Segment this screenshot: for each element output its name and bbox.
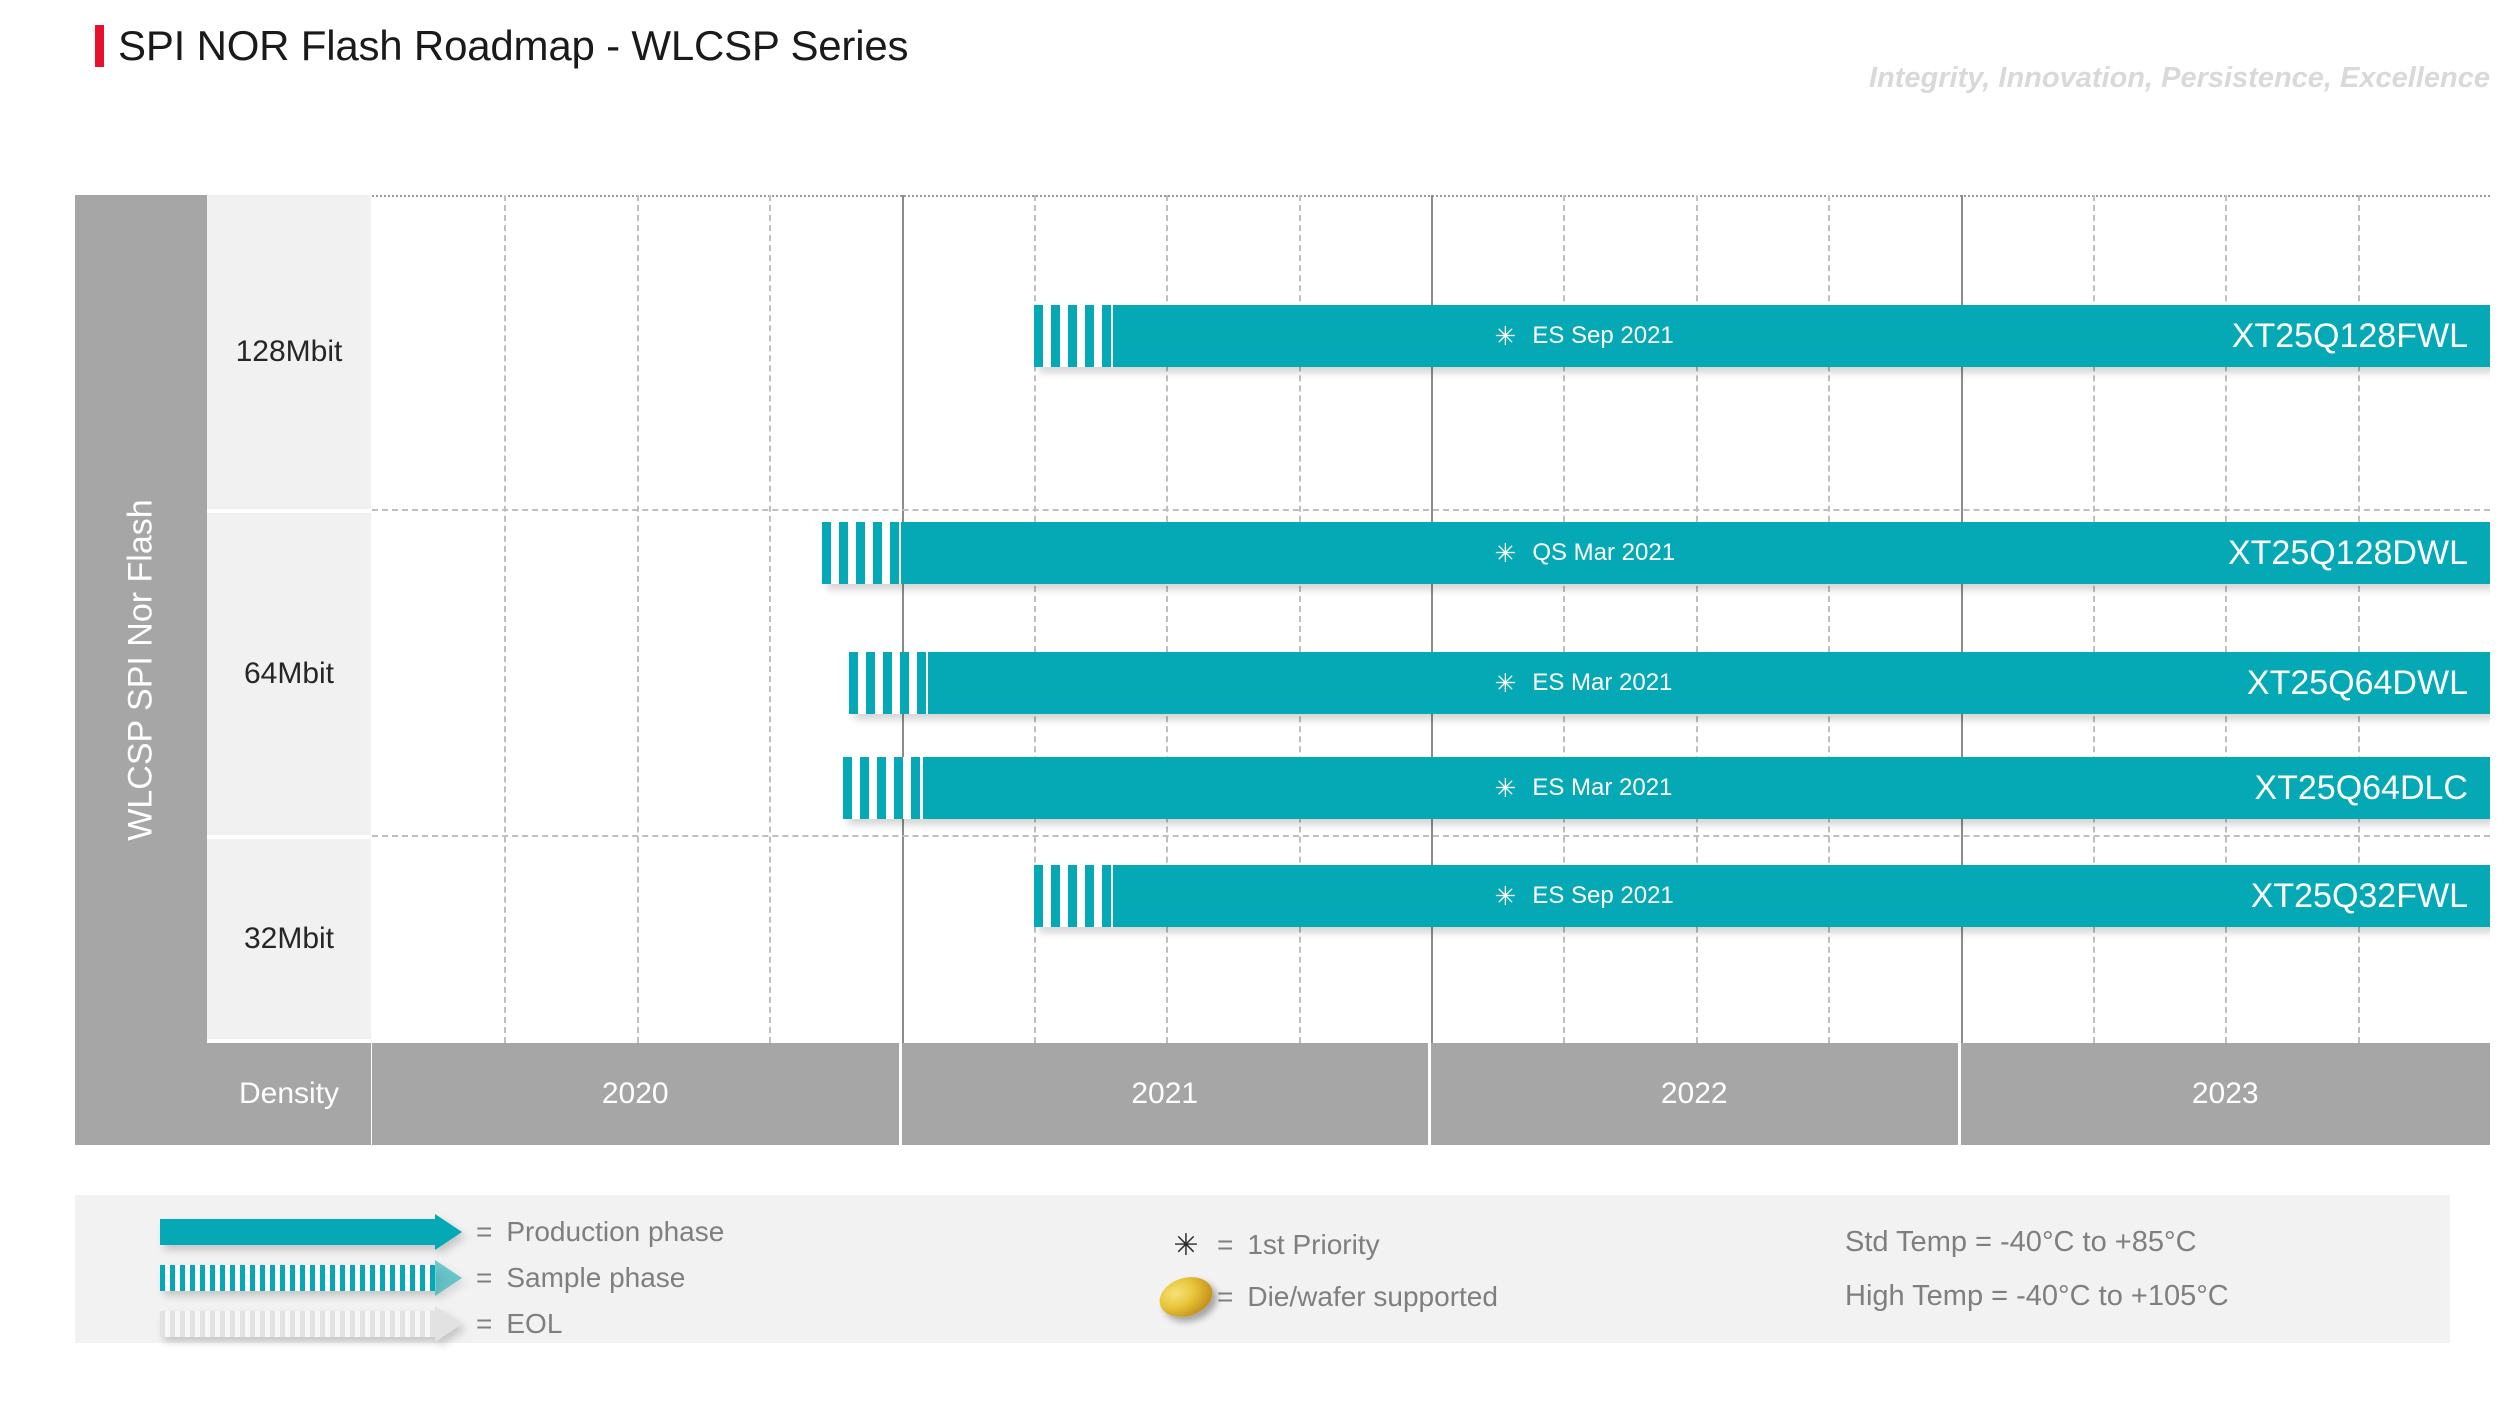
star-icon: ✳ xyxy=(1495,775,1517,801)
roadmap-bar-XT25Q64DLC[interactable]: ✳ES Mar 2021XT25Q64DLC xyxy=(843,757,2490,819)
star-icon: ✳ xyxy=(1155,1228,1217,1263)
density-axis: 128Mbit 64Mbit 32Mbit Density xyxy=(207,195,371,1145)
legend-label-wafer: Die/wafer supported xyxy=(1247,1281,1498,1313)
bar-milestone-label: ES Sep 2021 xyxy=(1532,882,1673,910)
bar-part-number: XT25Q64DLC xyxy=(2254,757,2468,819)
company-tagline: Integrity, Innovation, Persistence, Exce… xyxy=(1869,62,2490,95)
plot-area: ✳ES Sep 2021XT25Q128FWL✳QS Mar 2021XT25Q… xyxy=(372,195,2490,1043)
legend-equals-4: = xyxy=(1217,1281,1233,1313)
legend-markers: ✳ = 1st Priority = Die/wafer supported xyxy=(1155,1219,1498,1323)
gridline-quarter xyxy=(504,195,506,1043)
legend-phases: = Production phase = Sample phase = EOL xyxy=(160,1209,724,1347)
year-cell-2021: 2021 xyxy=(902,1043,1432,1145)
production-arrow-icon xyxy=(160,1219,462,1245)
legend-item-wafer: = Die/wafer supported xyxy=(1155,1271,1498,1323)
legend-label-priority: 1st Priority xyxy=(1247,1229,1379,1261)
bar-milestone-label: ES Mar 2021 xyxy=(1532,669,1672,697)
bar-milestone-label: QS Mar 2021 xyxy=(1532,539,1675,567)
bar-milestone-label: ES Sep 2021 xyxy=(1532,322,1673,350)
roadmap-bar-XT25Q64DWL[interactable]: ✳ES Mar 2021XT25Q64DWL xyxy=(849,652,2490,714)
sample-phase-segment xyxy=(1034,305,1113,367)
star-icon: ✳ xyxy=(1495,670,1517,696)
group-axis-label: WLCSP SPI Nor Flash xyxy=(122,499,161,840)
year-cell-2020: 2020 xyxy=(372,1043,902,1145)
sample-arrow-icon xyxy=(160,1265,462,1291)
legend-std-temp: Std Temp = -40°C to +85°C xyxy=(1845,1215,2229,1269)
legend-item-priority: ✳ = 1st Priority xyxy=(1155,1219,1498,1271)
sample-phase-segment xyxy=(843,757,922,819)
title-accent-bar xyxy=(95,25,104,67)
legend-label-eol: EOL xyxy=(506,1308,562,1340)
gridline-density xyxy=(372,835,2490,837)
roadmap-chart: WLCSP SPI Nor Flash 128Mbit 64Mbit 32Mbi… xyxy=(75,195,2490,1145)
roadmap-bar-XT25Q128FWL[interactable]: ✳ES Sep 2021XT25Q128FWL xyxy=(1034,305,2490,367)
year-cell-2023: 2023 xyxy=(1961,1043,2491,1145)
sample-phase-segment xyxy=(1034,865,1113,927)
legend-label-production: Production phase xyxy=(506,1216,724,1248)
density-axis-header: Density xyxy=(207,1043,371,1145)
roadmap-slide: SPI NOR Flash Roadmap - WLCSP Series Int… xyxy=(0,0,2520,1418)
legend-item-sample: = Sample phase xyxy=(160,1255,724,1301)
legend-equals-2: = xyxy=(476,1308,492,1340)
bar-milestone-group: ✳ES Sep 2021 xyxy=(1495,865,1674,927)
year-axis: 2020202120222023 xyxy=(372,1043,2490,1145)
page-title: SPI NOR Flash Roadmap - WLCSP Series xyxy=(95,22,908,70)
legend-item-eol: = EOL xyxy=(160,1301,724,1347)
page-title-text: SPI NOR Flash Roadmap - WLCSP Series xyxy=(118,22,908,70)
star-icon: ✳ xyxy=(1495,883,1517,909)
sample-phase-segment xyxy=(849,652,928,714)
bar-milestone-group: ✳ES Mar 2021 xyxy=(1495,757,1673,819)
sample-phase-segment xyxy=(822,522,901,584)
bar-milestone-group: ✳QS Mar 2021 xyxy=(1495,522,1676,584)
wafer-icon xyxy=(1155,1278,1217,1316)
gridline-quarter xyxy=(637,195,639,1043)
gridline-density xyxy=(372,509,2490,511)
bar-part-number: XT25Q128FWL xyxy=(2232,305,2468,367)
bar-milestone-group: ✳ES Sep 2021 xyxy=(1495,305,1674,367)
density-cell-128mbit: 128Mbit xyxy=(207,195,371,509)
density-cell-32mbit: 32Mbit xyxy=(207,839,371,1039)
legend-equals-0: = xyxy=(476,1216,492,1248)
roadmap-bar-XT25Q32FWL[interactable]: ✳ES Sep 2021XT25Q32FWL xyxy=(1034,865,2490,927)
roadmap-bar-XT25Q128DWL[interactable]: ✳QS Mar 2021XT25Q128DWL xyxy=(822,522,2490,584)
year-cell-2022: 2022 xyxy=(1431,1043,1961,1145)
group-axis: WLCSP SPI Nor Flash xyxy=(75,195,207,1145)
legend-panel: = Production phase = Sample phase = EOL … xyxy=(75,1195,2450,1343)
bar-part-number: XT25Q128DWL xyxy=(2228,522,2468,584)
bar-milestone-label: ES Mar 2021 xyxy=(1532,774,1672,802)
bar-part-number: XT25Q32FWL xyxy=(2251,865,2468,927)
bar-part-number: XT25Q64DWL xyxy=(2247,652,2468,714)
legend-item-production: = Production phase xyxy=(160,1209,724,1255)
legend-label-sample: Sample phase xyxy=(506,1262,685,1294)
bar-milestone-group: ✳ES Mar 2021 xyxy=(1495,652,1673,714)
legend-high-temp: High Temp = -40°C to +105°C xyxy=(1845,1269,2229,1323)
star-icon: ✳ xyxy=(1495,323,1517,349)
density-cell-64mbit: 64Mbit xyxy=(207,513,371,835)
legend-equals-1: = xyxy=(476,1262,492,1294)
star-icon: ✳ xyxy=(1495,540,1517,566)
gridline-year xyxy=(902,195,904,1043)
legend-temperature: Std Temp = -40°C to +85°C High Temp = -4… xyxy=(1845,1215,2229,1323)
eol-arrow-icon xyxy=(160,1311,462,1337)
legend-equals-3: = xyxy=(1217,1229,1233,1261)
gridline-quarter xyxy=(769,195,771,1043)
